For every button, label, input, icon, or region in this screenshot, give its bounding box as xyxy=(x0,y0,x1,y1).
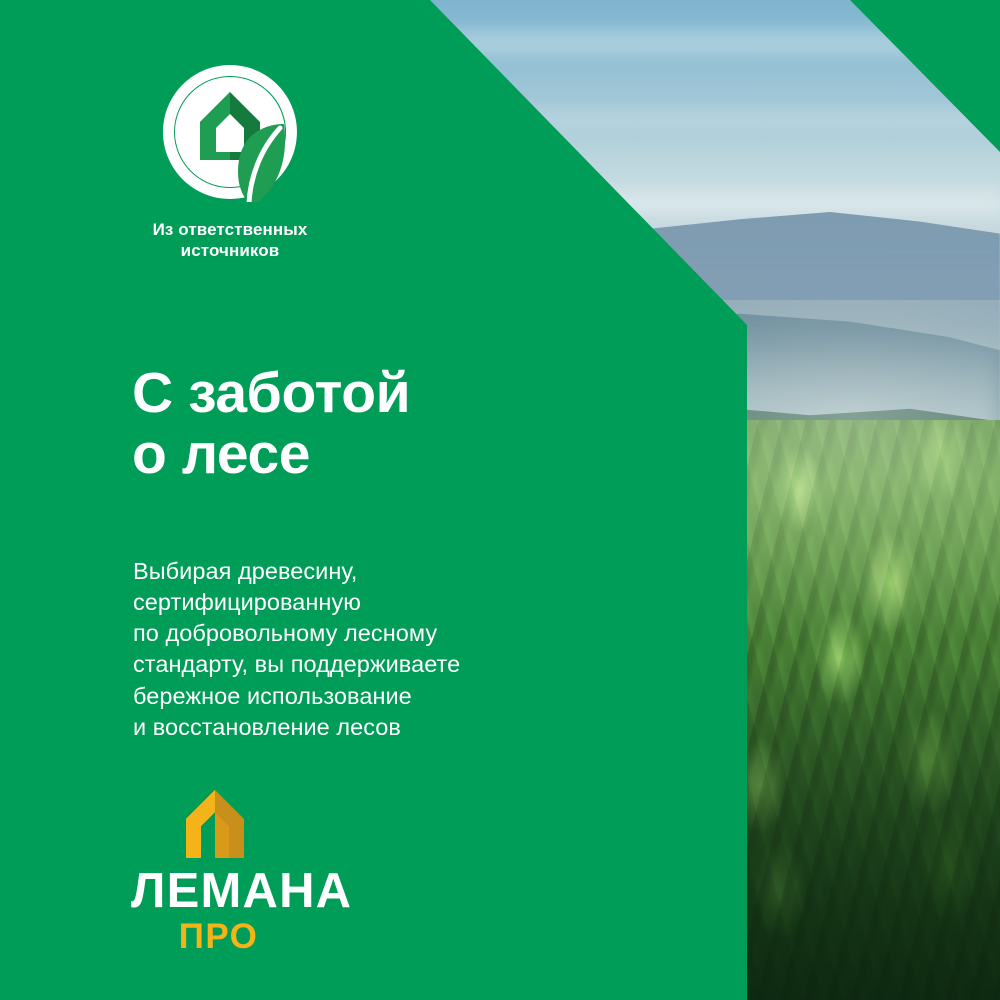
certification-badge: Из ответственных источников xyxy=(130,62,330,261)
house-leaf-circle-icon xyxy=(160,62,300,202)
content-layer: Из ответственных источников С заботой о … xyxy=(0,0,1000,1000)
brand-lockup: ЛЕМАНА ПРО xyxy=(131,788,361,954)
brand-name: ЛЕМАНА xyxy=(131,868,306,915)
brand-sub-name: ПРО xyxy=(131,919,306,954)
lemana-house-icon xyxy=(178,788,252,860)
certification-caption: Из ответственных источников xyxy=(130,220,330,261)
body-copy: Выбирая древесину, сертифицированную по … xyxy=(133,556,460,744)
poster-root: Из ответственных источников С заботой о … xyxy=(0,0,1000,1000)
page-title: С заботой о лесе xyxy=(132,363,410,485)
